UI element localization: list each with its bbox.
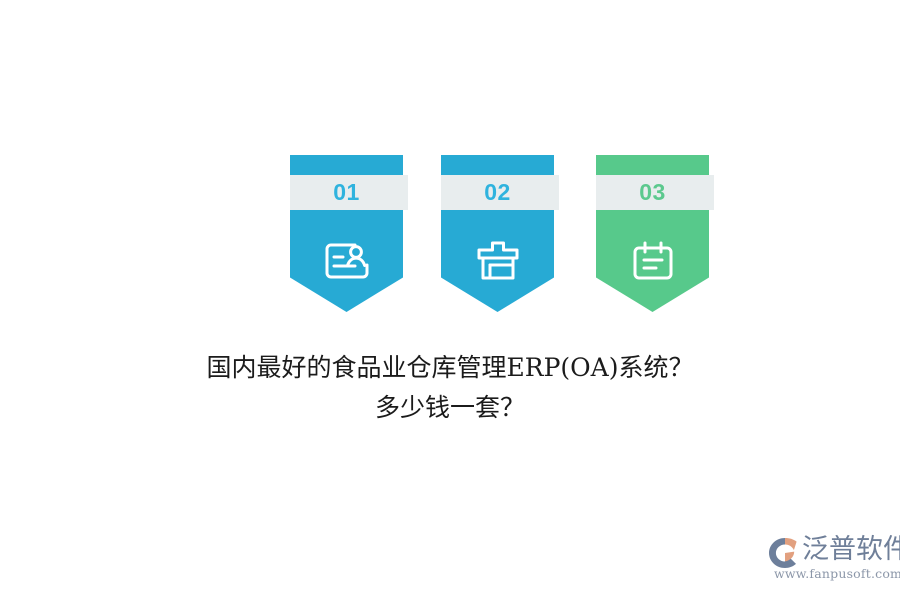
page-canvas: 01 02: [0, 0, 900, 600]
warehouse-building-icon: [441, 233, 554, 289]
page-title-line-2: 多少钱一套？: [0, 388, 900, 428]
banner-item-02[interactable]: 02: [441, 155, 554, 312]
page-title-line-1: 国内最好的食品业仓库管理ERP(OA)系统？: [0, 348, 900, 388]
banner-item-03[interactable]: 03: [596, 155, 709, 312]
banner-number-label: 02: [441, 175, 554, 210]
brand-url: www.fanpusoft.com: [774, 566, 898, 581]
banner-group: 01 02: [0, 155, 900, 315]
brand-logo[interactable]: 泛普软件 www.fanpusoft.com: [768, 533, 896, 585]
banner-item-01[interactable]: 01: [290, 155, 403, 312]
banner-number-label: 03: [596, 175, 709, 210]
fanpu-swoosh-logo-icon: [768, 537, 802, 569]
brand-name: 泛普软件: [802, 533, 898, 567]
id-card-contact-icon: [290, 233, 403, 289]
calendar-note-icon: [596, 233, 709, 289]
banner-number-label: 01: [290, 175, 403, 210]
page-title: 国内最好的食品业仓库管理ERP(OA)系统？ 多少钱一套？: [0, 348, 900, 428]
